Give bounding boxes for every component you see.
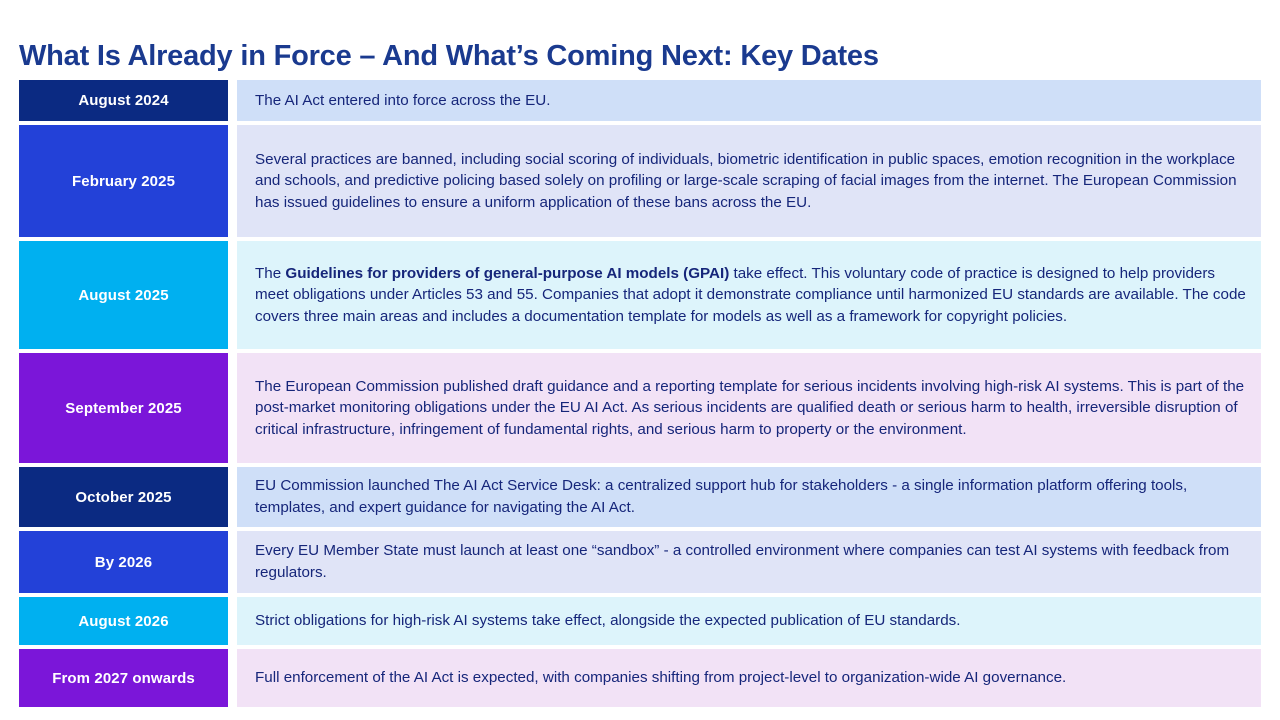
timeline-date-label: October 2025 (75, 489, 171, 506)
timeline-description-text: EU Commission launched The AI Act Servic… (255, 475, 1247, 518)
body-text: Several practices are banned, including … (255, 151, 1237, 211)
emphasis-text: Guidelines for providers of general-purp… (285, 265, 729, 282)
timeline-row: From 2027 onwardsFull enforcement of the… (19, 649, 1261, 707)
body-text: The AI Act entered into force across the… (255, 92, 550, 109)
timeline-description-panel: EU Commission launched The AI Act Servic… (237, 467, 1261, 527)
timeline-row-gap (228, 80, 237, 121)
body-text: Every EU Member State must launch at lea… (255, 542, 1229, 581)
timeline-row-gap (228, 241, 237, 349)
timeline-description-panel: Every EU Member State must launch at lea… (237, 531, 1261, 593)
body-text: The European Commission published draft … (255, 378, 1244, 438)
timeline-date-label: September 2025 (65, 400, 181, 417)
timeline-row-gap (228, 649, 237, 707)
timeline-date-label: February 2025 (72, 173, 175, 190)
body-text: The (255, 265, 285, 282)
timeline-description-panel: Full enforcement of the AI Act is expect… (237, 649, 1261, 707)
timeline-row-gap (228, 597, 237, 645)
timeline-description-text: The AI Act entered into force across the… (255, 90, 550, 112)
timeline-description-panel: The Guidelines for providers of general-… (237, 241, 1261, 349)
timeline-row: August 2026Strict obligations for high-r… (19, 597, 1261, 645)
body-text: EU Commission launched The AI Act Servic… (255, 477, 1187, 516)
timeline-row-gap (228, 467, 237, 527)
timeline-date-label: August 2026 (78, 613, 168, 630)
timeline-date-badge[interactable]: September 2025 (19, 353, 228, 463)
timeline-row: By 2026Every EU Member State must launch… (19, 531, 1261, 593)
timeline-description-text: The European Commission published draft … (255, 376, 1247, 441)
timeline-date-badge[interactable]: February 2025 (19, 125, 228, 237)
timeline-date-badge[interactable]: August 2026 (19, 597, 228, 645)
timeline-row: August 2024The AI Act entered into force… (19, 80, 1261, 121)
timeline-description-panel: Several practices are banned, including … (237, 125, 1261, 237)
timeline-row: September 2025The European Commission pu… (19, 353, 1261, 463)
timeline-description-text: Every EU Member State must launch at lea… (255, 540, 1247, 583)
timeline-description-panel: The AI Act entered into force across the… (237, 80, 1261, 121)
timeline-date-badge[interactable]: August 2025 (19, 241, 228, 349)
page-title: What Is Already in Force – And What’s Co… (19, 41, 1249, 73)
timeline-description-panel: Strict obligations for high-risk AI syst… (237, 597, 1261, 645)
timeline-date-badge[interactable]: By 2026 (19, 531, 228, 593)
timeline-date-label: From 2027 onwards (52, 670, 195, 687)
timeline-row: February 2025Several practices are banne… (19, 125, 1261, 237)
timeline-description-text: Strict obligations for high-risk AI syst… (255, 610, 960, 632)
timeline-date-label: August 2024 (78, 92, 168, 109)
timeline-date-badge[interactable]: October 2025 (19, 467, 228, 527)
timeline-row: August 2025The Guidelines for providers … (19, 241, 1261, 349)
timeline-date-badge[interactable]: From 2027 onwards (19, 649, 228, 707)
timeline-description-text: The Guidelines for providers of general-… (255, 263, 1247, 328)
timeline-date-label: August 2025 (78, 287, 168, 304)
timeline-date-badge[interactable]: August 2024 (19, 80, 228, 121)
timeline-description-panel: The European Commission published draft … (237, 353, 1261, 463)
timeline-row-gap (228, 353, 237, 463)
timeline-list: August 2024The AI Act entered into force… (19, 80, 1261, 711)
timeline-row-gap (228, 125, 237, 237)
timeline-row-gap (228, 531, 237, 593)
timeline-description-text: Full enforcement of the AI Act is expect… (255, 667, 1066, 689)
timeline-description-text: Several practices are banned, including … (255, 149, 1247, 214)
timeline-date-label: By 2026 (95, 554, 152, 571)
slide-canvas: What Is Already in Force – And What’s Co… (0, 0, 1280, 720)
body-text: Strict obligations for high-risk AI syst… (255, 612, 960, 629)
timeline-row: October 2025EU Commission launched The A… (19, 467, 1261, 527)
body-text: Full enforcement of the AI Act is expect… (255, 669, 1066, 686)
